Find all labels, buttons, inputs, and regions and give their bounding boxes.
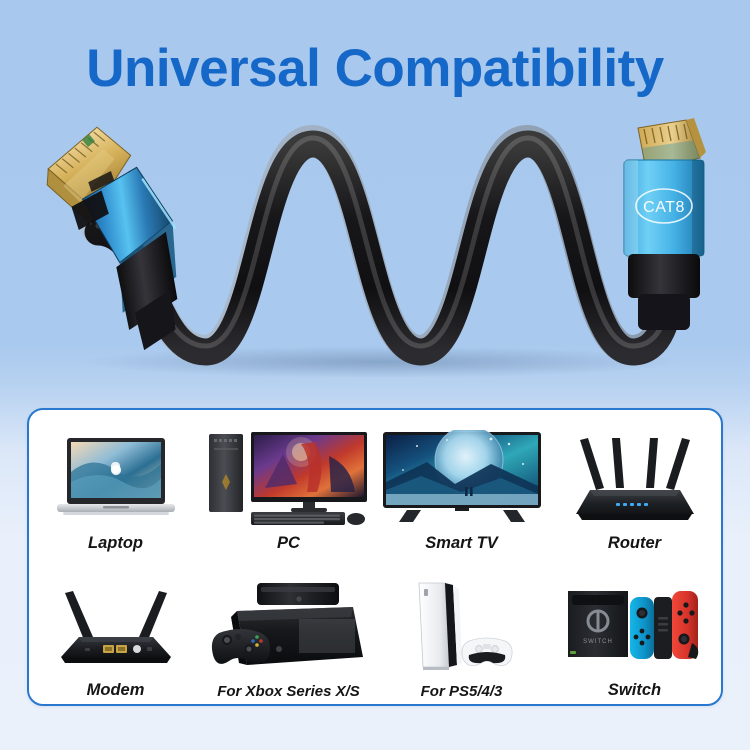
rj45-connector-right: CAT8 <box>624 118 706 330</box>
rj45-connector-left <box>30 113 191 362</box>
laptop-icon <box>29 422 202 526</box>
device-label: For Xbox Series X/S <box>217 683 360 700</box>
device-cell-playstation[interactable]: For PS5/4/3 <box>375 557 548 704</box>
smart-tv-icon <box>375 422 548 526</box>
modem-icon <box>29 569 202 673</box>
cable-ribbon <box>96 138 669 352</box>
nintendo-switch-icon: SWITCH <box>548 569 721 673</box>
device-cell-router[interactable]: Router <box>548 410 721 557</box>
router-icon <box>548 422 721 526</box>
device-cell-smart-tv[interactable]: Smart TV <box>375 410 548 557</box>
xbox-console-icon <box>202 571 375 675</box>
device-label: Router <box>608 534 661 553</box>
device-cell-laptop[interactable]: Laptop <box>29 410 202 557</box>
compatibility-card: Laptop <box>27 408 723 706</box>
cable-illustration: CAT8 <box>0 100 750 400</box>
device-grid-row: Laptop <box>29 410 721 557</box>
cable-shadow <box>80 346 680 378</box>
device-label: Switch <box>608 681 661 700</box>
device-cell-pc[interactable]: PC <box>202 410 375 557</box>
page-title: Universal Compatibility <box>0 38 750 99</box>
svg-text:SWITCH: SWITCH <box>583 639 613 645</box>
device-grid-row: Modem <box>29 557 721 704</box>
device-label: PC <box>277 534 300 553</box>
playstation-console-icon <box>375 571 548 675</box>
cat8-badge-text: CAT8 <box>643 199 685 216</box>
device-label: For PS5/4/3 <box>421 683 503 700</box>
device-grid: Laptop <box>29 410 721 704</box>
device-label: Modem <box>87 681 145 700</box>
device-cell-xbox[interactable]: For Xbox Series X/S <box>202 557 375 704</box>
device-cell-modem[interactable]: Modem <box>29 557 202 704</box>
device-label: Laptop <box>88 534 143 553</box>
hero-product-image: CAT8 <box>0 100 750 400</box>
desktop-pc-icon <box>202 422 375 526</box>
device-label: Smart TV <box>425 534 497 553</box>
device-cell-switch[interactable]: SWITCH <box>548 557 721 704</box>
